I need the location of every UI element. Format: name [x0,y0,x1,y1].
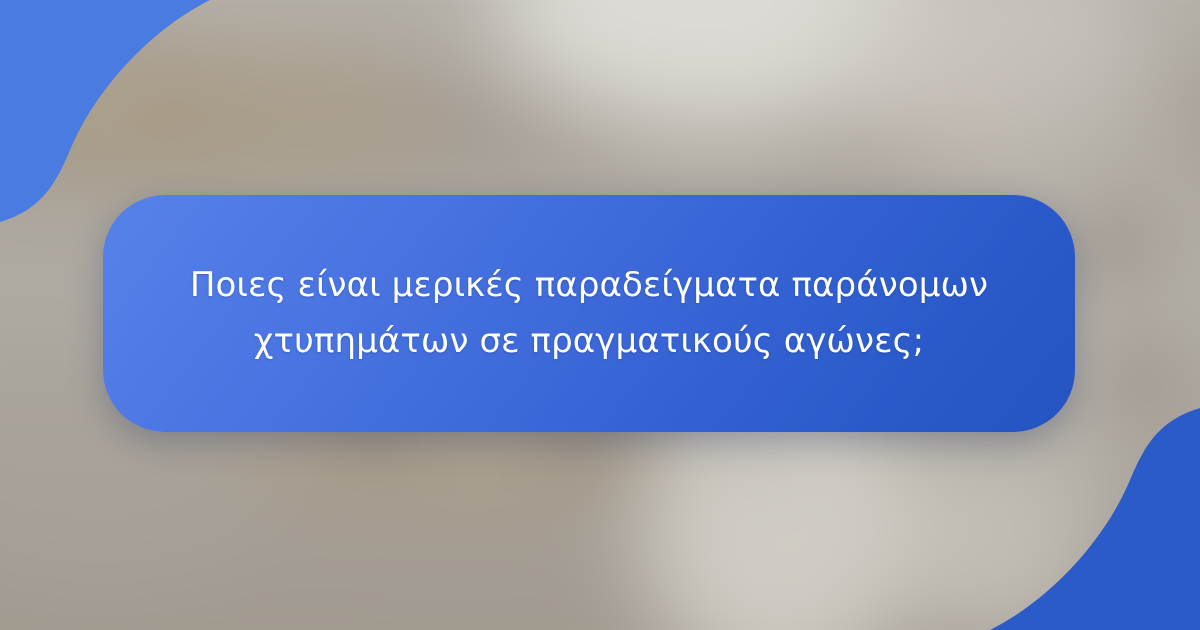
poster-canvas: Ποιες είναι μερικές παραδείγματα παράνομ… [0,0,1200,630]
question-text: Ποιες είναι μερικές παραδείγματα παράνομ… [189,258,989,368]
background-figure [108,11,131,32]
background-figure [70,77,119,107]
question-card: Ποιες είναι μερικές παραδείγματα παράνομ… [103,195,1075,432]
background-figure [1088,214,1152,275]
background-figure [1104,342,1163,412]
